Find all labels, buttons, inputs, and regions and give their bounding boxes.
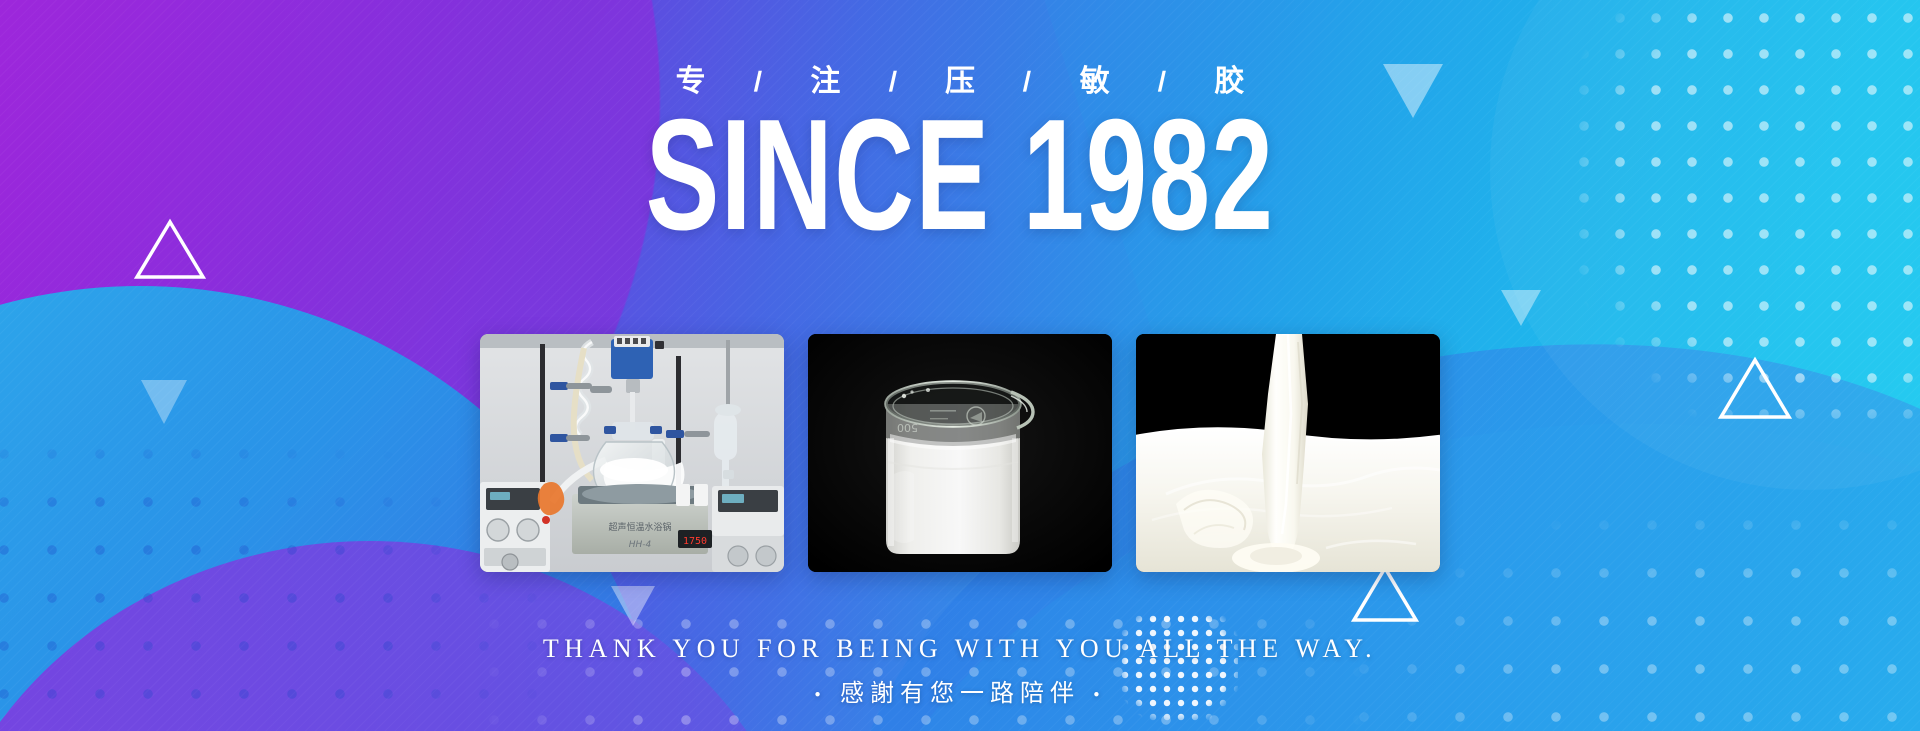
svg-text:HH-4: HH-4	[629, 540, 652, 550]
svg-text:500: 500	[897, 421, 918, 434]
headline: SINCE1982	[288, 96, 1632, 254]
photo-beaker-emulsion-image: 500	[808, 334, 1112, 572]
svg-text:超声恒温水浴锅: 超声恒温水浴锅	[608, 521, 671, 533]
photo-gallery: 超声恒温水浴锅 HH-4	[0, 334, 1920, 572]
footer-bullet-right: •	[1092, 686, 1107, 704]
footer-chinese-line: •感謝有您一路陪伴•	[0, 673, 1920, 708]
photo-lab-reactor-image: 超声恒温水浴锅 HH-4	[480, 334, 784, 572]
headline-word: SINCE	[646, 87, 991, 263]
svg-text:1750: 1750	[683, 536, 707, 547]
footer-chinese-text: 感謝有您一路陪伴	[840, 679, 1080, 707]
banner-content: 专 / 注 / 压 / 敏 / 胶 SINCE1982	[0, 0, 1920, 731]
photo-pouring-adhesive[interactable]	[1136, 334, 1440, 572]
photo-pouring-adhesive-image	[1136, 334, 1440, 572]
headline-year: 1982	[1023, 87, 1275, 263]
photo-beaker-emulsion[interactable]: 500	[808, 334, 1112, 572]
photo-lab-reactor[interactable]: 超声恒温水浴锅 HH-4	[480, 334, 784, 572]
footer-english-text: THANK YOU FOR BEING WITH YOU ALL THE WAY…	[0, 634, 1920, 664]
promo-banner: 专 / 注 / 压 / 敏 / 胶 SINCE1982	[0, 0, 1920, 731]
footer-bullet-left: •	[813, 686, 828, 704]
